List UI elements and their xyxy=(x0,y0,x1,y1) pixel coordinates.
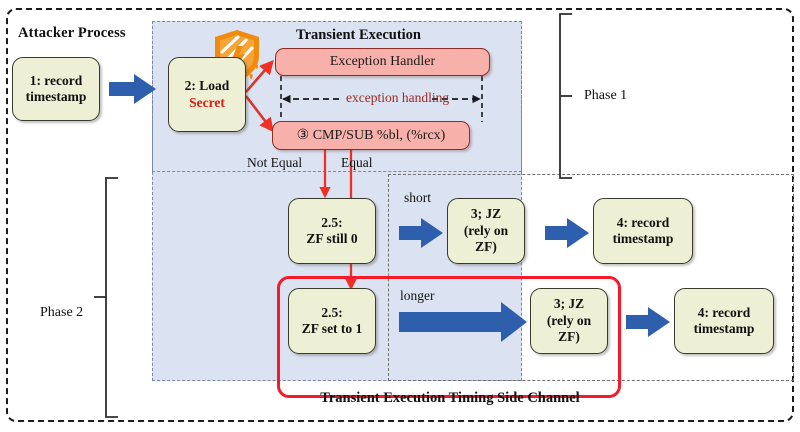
node-exception-handler[interactable]: Exception Handler xyxy=(275,48,490,76)
node-2-line2: Secret xyxy=(185,95,230,111)
zf-still-0-line1: 2.5: xyxy=(306,215,357,231)
node-cmp-sub[interactable]: ③ CMP/SUB %bl, (%rcx) xyxy=(272,121,470,150)
node-4-record-bottom[interactable]: 4: record timestamp xyxy=(674,288,774,354)
phase-2-label: Phase 2 xyxy=(40,305,83,321)
rec-top-line2: timestamp xyxy=(613,231,674,247)
transient-execution-title: Transient Execution xyxy=(296,27,421,44)
jz-top-line1: 3; JZ xyxy=(464,206,508,222)
node-1-record-timestamp[interactable]: 1: record timestamp xyxy=(12,57,100,121)
rec-bottom-line2: timestamp xyxy=(694,321,755,337)
node-zf-still-0[interactable]: 2.5: ZF still 0 xyxy=(288,198,376,264)
label-equal: Equal xyxy=(341,155,373,171)
node-1-line1: 1: record xyxy=(26,73,87,89)
exception-handler-label: Exception Handler xyxy=(330,54,435,70)
jz-top-line2: (rely on xyxy=(464,223,508,239)
rec-top-line1: 4: record xyxy=(613,215,674,231)
jz-top-line3: ZF) xyxy=(464,239,508,255)
zf-still-0-line2: ZF still 0 xyxy=(306,231,357,247)
label-short: short xyxy=(404,190,431,206)
timing-side-channel-caption: Transient Execution Timing Side Channel xyxy=(290,390,610,407)
cmp-sub-label: ③ CMP/SUB %bl, (%rcx) xyxy=(297,127,446,144)
node-4-record-top[interactable]: 4: record timestamp xyxy=(593,198,693,264)
node-jz-top[interactable]: 3; JZ (rely on ZF) xyxy=(447,198,525,264)
label-exception-handling: exception handling xyxy=(346,90,449,106)
timing-side-channel-highlight xyxy=(277,276,621,398)
label-not-equal: Not Equal xyxy=(247,155,302,171)
attacker-process-title: Attacker Process xyxy=(18,25,126,42)
node-2-line1: 2: Load xyxy=(185,78,230,94)
phase-1-label: Phase 1 xyxy=(584,88,627,104)
diagram-canvas: Attacker Process Transient Execution xyxy=(0,0,800,432)
node-2-load-secret[interactable]: 2: Load Secret xyxy=(168,57,246,132)
node-1-line2: timestamp xyxy=(26,89,87,105)
rec-bottom-line1: 4: record xyxy=(694,305,755,321)
